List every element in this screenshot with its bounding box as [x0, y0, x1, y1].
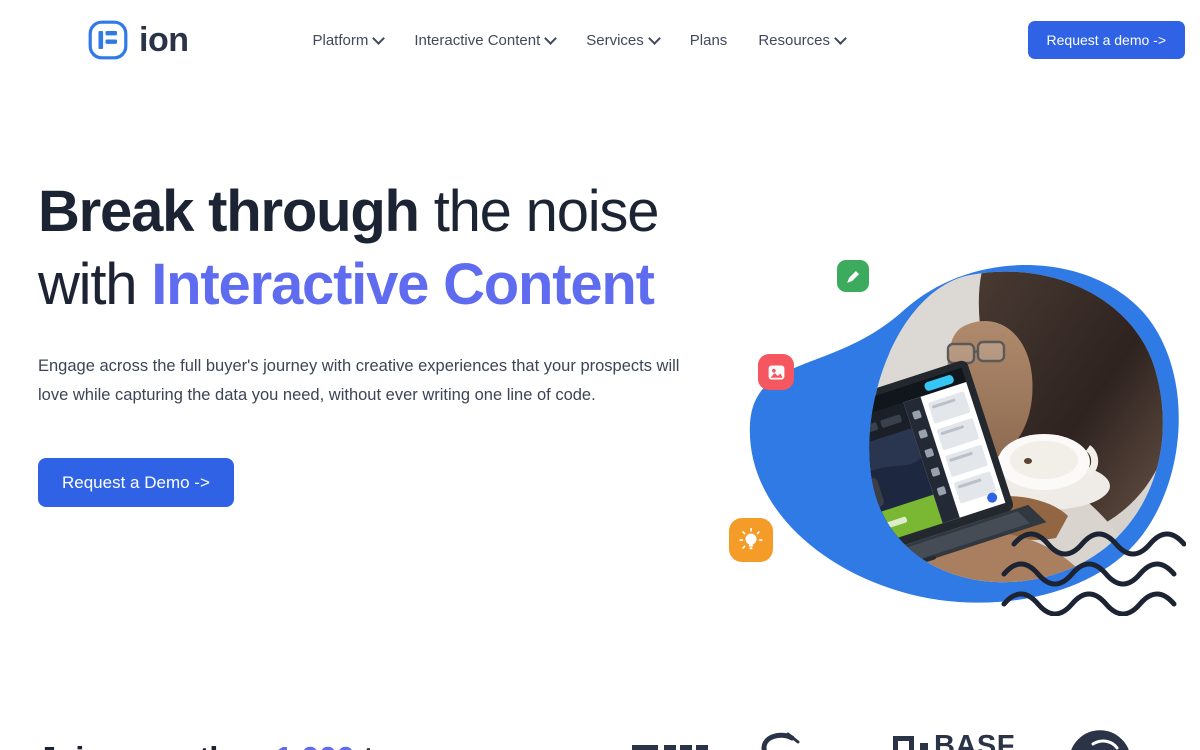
ion-logo-icon	[88, 20, 128, 60]
customer-logo-strip: Join more than 1,000 teams BASF	[0, 712, 1200, 750]
heading-part5: teams	[354, 740, 455, 750]
hero-title-part2: the noise	[419, 179, 659, 244]
logo-ge	[1063, 724, 1137, 750]
floating-badge-image	[758, 354, 794, 390]
image-icon	[766, 362, 787, 383]
heading-part1: Join	[38, 740, 112, 750]
logo-basf-wordmark: BASF	[893, 732, 1015, 750]
logo-dell-icon	[630, 736, 726, 750]
site-header: ion Platform Interactive Content Service…	[0, 0, 1200, 80]
logo-basf: BASF	[893, 732, 1015, 750]
lightbulb-idea-icon	[738, 527, 764, 553]
hero-title: Break through the noise with Interactive…	[38, 175, 718, 321]
hero-section: Break through the noise with Interactive…	[0, 80, 1200, 507]
hero-subtitle: Engage across the full buyer's journey w…	[38, 352, 703, 409]
hero-title-part1: Break through	[38, 179, 419, 244]
floating-badge-idea	[729, 518, 773, 562]
nav-item-label: Services	[586, 33, 644, 48]
main-navigation: Platform Interactive Content Services Pl…	[312, 33, 845, 48]
header-request-demo-button[interactable]: Request a demo ->	[1028, 21, 1185, 59]
logo-script-icon	[752, 732, 810, 750]
nav-item-services[interactable]: Services	[586, 33, 659, 48]
basf-dot-icon	[920, 743, 928, 750]
chevron-down-icon	[374, 34, 383, 43]
nav-item-plans[interactable]: Plans	[690, 33, 728, 48]
chevron-down-icon	[836, 34, 845, 43]
logo-strip-heading: Join more than 1,000 teams	[38, 738, 455, 750]
logo-script	[752, 732, 810, 750]
heading-part4: 1,000	[275, 740, 355, 750]
nav-item-label: Interactive Content	[414, 33, 540, 48]
nav-item-interactive-content[interactable]: Interactive Content	[414, 33, 555, 48]
heading-part2: more	[112, 740, 190, 750]
floating-badge-edit	[837, 260, 869, 292]
hero-art-svg	[716, 248, 1186, 616]
brand-logo-link[interactable]: ion	[88, 20, 188, 60]
chevron-down-icon	[546, 34, 555, 43]
nav-item-resources[interactable]: Resources	[758, 33, 845, 48]
logo-ge-icon	[1063, 724, 1137, 750]
logo-basf-label: BASF	[934, 732, 1015, 750]
hero-title-part4: Interactive Content	[151, 252, 654, 317]
nav-item-platform[interactable]: Platform	[312, 33, 383, 48]
nav-item-label: Resources	[758, 33, 830, 48]
logo-dell	[630, 736, 726, 750]
heading-part3: than	[190, 740, 274, 750]
hero-title-part3: with	[38, 252, 151, 317]
nav-item-label: Platform	[312, 33, 368, 48]
chevron-down-icon	[650, 34, 659, 43]
hero-copy: Break through the noise with Interactive…	[38, 175, 718, 507]
basf-square-icon	[893, 736, 914, 750]
nav-item-label: Plans	[690, 33, 728, 48]
brand-name: ion	[139, 23, 188, 57]
hero-artwork	[716, 248, 1186, 616]
edit-pencil-icon	[844, 267, 863, 286]
hero-request-demo-button[interactable]: Request a Demo ->	[38, 458, 234, 507]
